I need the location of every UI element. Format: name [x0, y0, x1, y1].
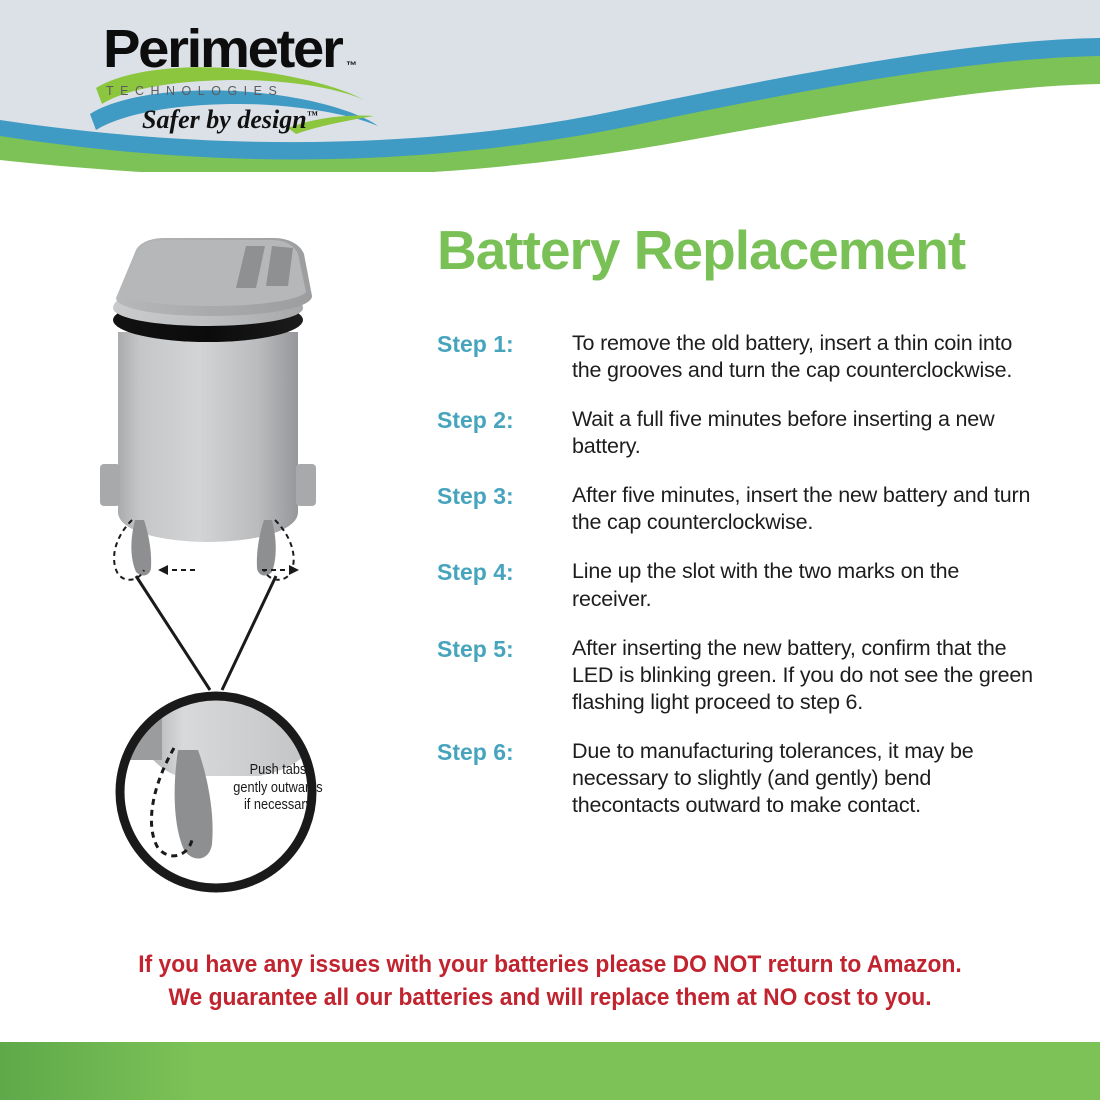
brand-logo: Perimeter ™ TECHNOLOGIES Safer by design… — [98, 22, 368, 142]
right-arrow-head-icon — [289, 565, 299, 575]
step-label: Step 1: — [437, 330, 572, 384]
list-item: Step 1: To remove the old battery, inser… — [437, 330, 1037, 384]
step-label: Step 3: — [437, 482, 572, 536]
step-text: After five minutes, insert the new batte… — [572, 482, 1037, 536]
callout-line-1: Push tabs — [216, 762, 339, 780]
step-label: Step 5: — [437, 635, 572, 716]
step-text: Due to manufacturing tolerances, it may … — [572, 738, 1037, 819]
bend-direction-arrow-head-icon — [164, 883, 182, 901]
infographic-page: Perimeter ™ TECHNOLOGIES Safer by design… — [0, 0, 1100, 1100]
brand-name: Perimeter — [103, 22, 342, 76]
step-text: Line up the slot with the two marks on t… — [572, 558, 1037, 612]
list-item: Step 3: After five minutes, insert the n… — [437, 482, 1037, 536]
brand-tagline: Safer by design™ — [142, 105, 318, 135]
leader-line-right — [222, 576, 276, 690]
list-item: Step 2: Wait a full five minutes before … — [437, 406, 1037, 460]
leader-line-left — [136, 576, 210, 690]
callout-line-2: gently outwards — [216, 780, 339, 798]
brand-subtitle: TECHNOLOGIES — [106, 84, 283, 98]
page-footer — [0, 1042, 1100, 1100]
receiver-body — [118, 332, 298, 542]
tagline-trademark-icon: ™ — [307, 109, 318, 121]
step-label: Step 6: — [437, 738, 572, 819]
page-header: Perimeter ™ TECHNOLOGIES Safer by design… — [0, 0, 1100, 172]
steps-list: Step 1: To remove the old battery, inser… — [437, 330, 1037, 841]
list-item: Step 4: Line up the slot with the two ma… — [437, 558, 1037, 612]
brand-trademark-icon: ™ — [346, 60, 357, 72]
page-title: Battery Replacement — [437, 222, 1037, 280]
step-text: Wait a full five minutes before insertin… — [572, 406, 1037, 460]
list-item: Step 5: After inserting the new battery,… — [437, 635, 1037, 716]
receiver-right-lug — [296, 464, 316, 506]
callout-text-block: Push tabs gently outwards if necessary — [216, 762, 339, 815]
brand-tagline-text: Safer by design — [142, 105, 307, 134]
callout-line-3: if necessary — [216, 797, 339, 815]
warning-line-1: If you have any issues with your batteri… — [39, 948, 1062, 981]
receiver-illustration: Push tabs gently outwards if necessary — [60, 220, 390, 920]
left-arrow-head-icon — [158, 565, 168, 575]
warning-message: If you have any issues with your batteri… — [39, 948, 1062, 1014]
receiver-device — [100, 238, 316, 550]
step-label: Step 4: — [437, 558, 572, 612]
list-item: Step 6: Due to manufacturing tolerances,… — [437, 738, 1037, 819]
step-text: To remove the old battery, insert a thin… — [572, 330, 1037, 384]
magnifier-leader-lines — [136, 576, 276, 690]
receiver-left-lug — [100, 464, 120, 506]
warning-line-2: We guarantee all our batteries and will … — [39, 981, 1062, 1014]
step-label: Step 2: — [437, 406, 572, 460]
callout-arrows — [158, 565, 299, 575]
step-text: After inserting the new battery, confirm… — [572, 635, 1037, 716]
